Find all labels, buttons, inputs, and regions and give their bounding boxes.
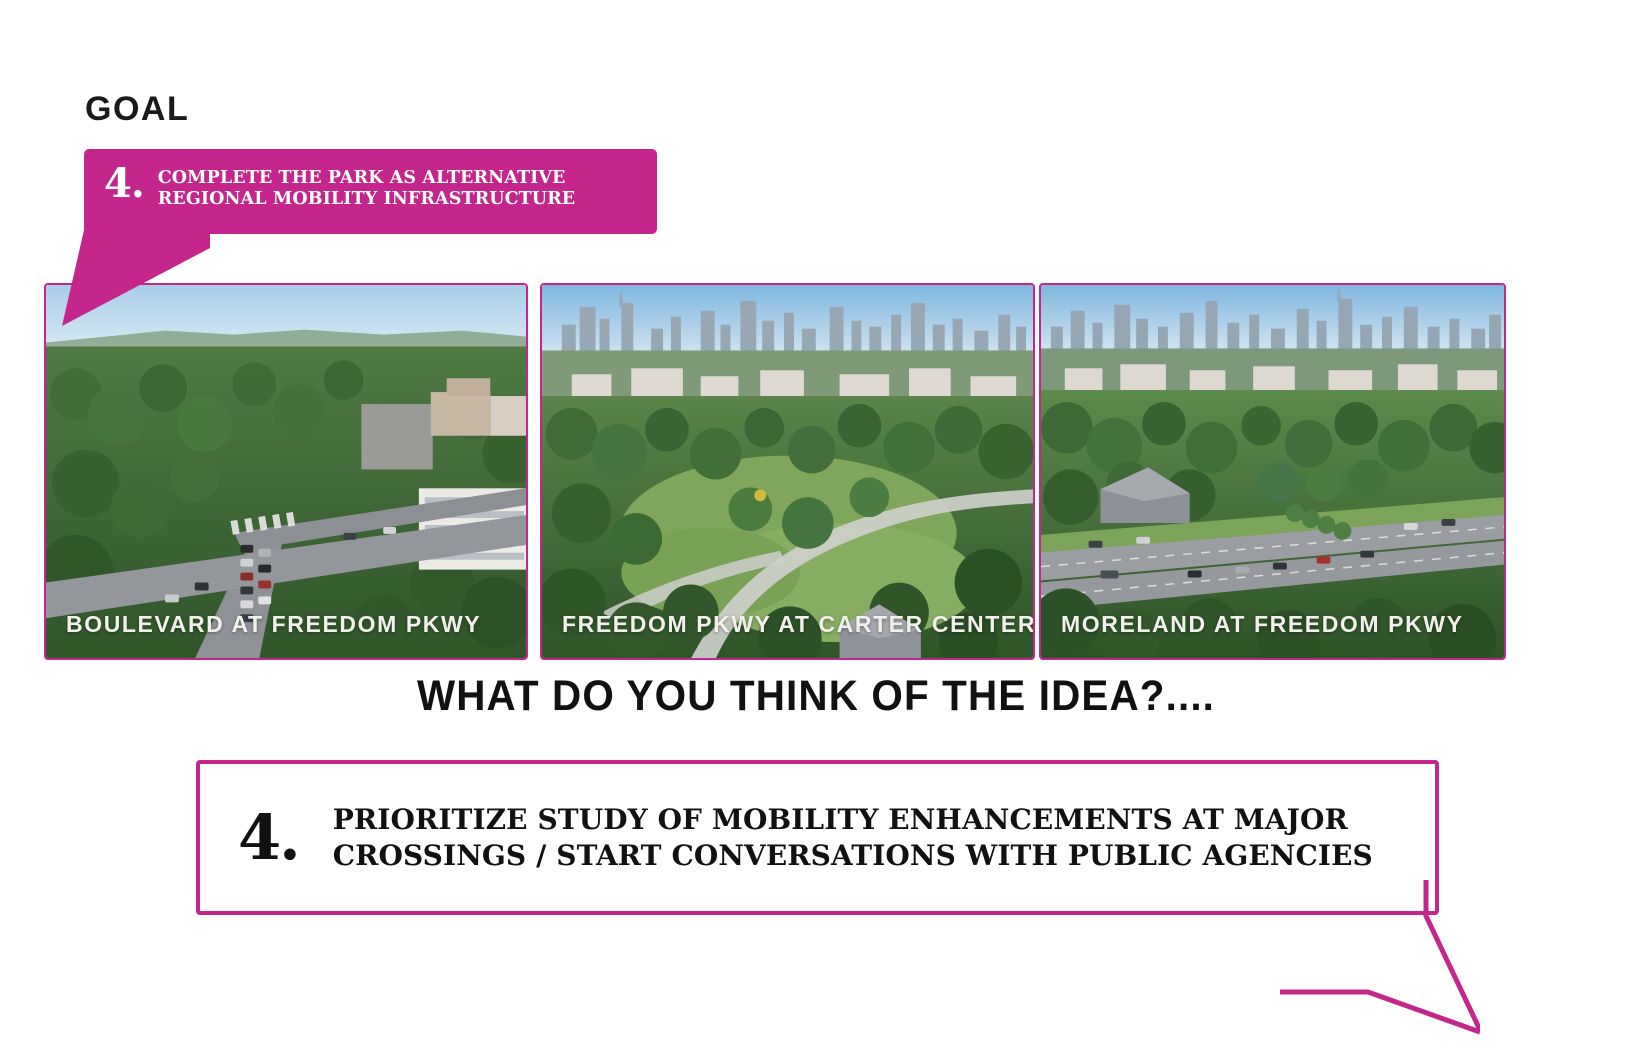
idea-statement: PRIORITIZE STUDY OF MOBILITY ENHANCEMENT… [333,802,1373,874]
photo-panel[interactable]: MORELAND AT FREEDOM PKWY [1039,283,1506,660]
goal-statement: COMPLETE THE PARK AS ALTERNATIVE REGIONA… [158,165,643,211]
idea-callout: 4. PRIORITIZE STUDY OF MOBILITY ENHANCEM… [196,760,1439,915]
goal-callout: 4. COMPLETE THE PARK AS ALTERNATIVE REGI… [84,149,657,234]
idea-statement-line2: CROSSINGS / START CONVERSATIONS WITH PUB… [333,838,1373,874]
photo-strip: BOULEVARD AT FREEDOM PKWY [44,283,1506,660]
photo-caption: MORELAND AT FREEDOM PKWY [1061,611,1496,638]
photo-panel[interactable]: BOULEVARD AT FREEDOM PKWY [44,283,528,660]
headline-question: WHAT DO YOU THINK OF THE IDEA?.... [49,672,1583,721]
aerial-roadway-skyline-photo [1041,285,1504,659]
photo-panel[interactable]: FREEDOM PKWY AT CARTER CENTER [540,283,1035,660]
goal-number: 4. [104,165,144,203]
idea-statement-line1: PRIORITIZE STUDY OF MOBILITY ENHANCEMENT… [333,802,1373,838]
photo-caption: FREEDOM PKWY AT CARTER CENTER [562,611,1025,638]
aerial-intersection-photo [46,285,526,659]
page-title: GOAL [85,92,189,126]
photo-caption: BOULEVARD AT FREEDOM PKWY [66,611,518,638]
aerial-park-skyline-photo [542,285,1033,659]
idea-number: 4. [238,810,299,866]
